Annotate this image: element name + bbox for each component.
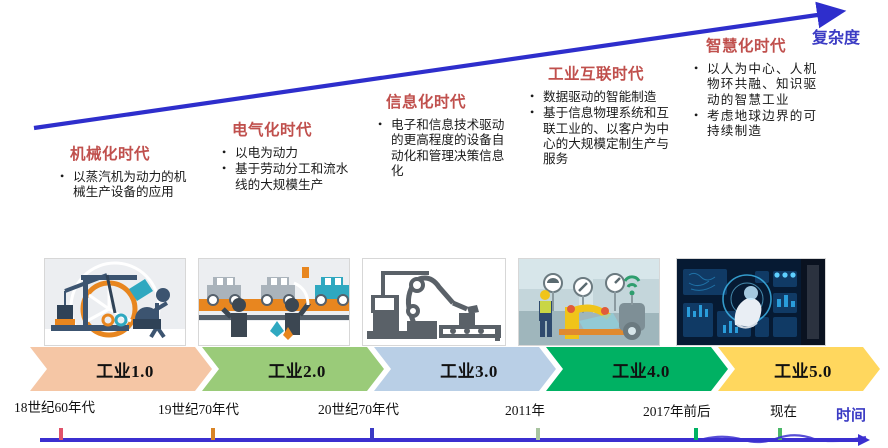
industry-stage-chevrons: 工业1.0 工业2.0 工业3.0 工业4.0 工业5.0 [30, 347, 880, 391]
era-bullet-list: 数据驱动的智能制造 基于信息物理系统和互联工业的、以客户为中心的大规模定制生产与… [530, 90, 670, 168]
era-bullet: 电子和信息技术驱动的更高程度的设备自动化和管理决策信息化 [378, 118, 510, 179]
chevron-industry-1[interactable]: 工业1.0 [30, 347, 212, 391]
thumb-industry-2 [198, 258, 350, 346]
chevron-label: 工业3.0 [440, 357, 498, 382]
bottom-timeline [0, 424, 888, 448]
thumb-industry-1 [44, 258, 186, 346]
date-label-6: 现在 [770, 400, 797, 420]
era-bullet-list: 以蒸汽机为动力的机械生产设备的应用 [60, 170, 190, 201]
era-title: 机械化时代 [70, 142, 190, 164]
date-label-3: 20世纪70年代 [318, 398, 399, 418]
era-bullet-list: 以电为动力 基于劳动分工和流水线的大规模生产 [222, 146, 350, 193]
era-bullet: 数据驱动的智能制造 [530, 90, 670, 105]
timeline-tick-3 [370, 428, 374, 440]
timeline-scribble [700, 430, 870, 448]
era-bullet: 考虑地球边界的可持续制造 [694, 109, 822, 140]
timeline-tick-1 [59, 428, 63, 440]
chevron-industry-3[interactable]: 工业3.0 [374, 347, 556, 391]
thumb-industry-4 [518, 258, 660, 346]
era-bullet: 基于信息物理系统和互联工业的、以客户为中心的大规模定制生产与服务 [530, 106, 670, 167]
era-column-mechanization: 机械化时代 以蒸汽机为动力的机械生产设备的应用 [60, 142, 190, 202]
era-bullet-list: 以人为中心、人机物环共融、知识驱动的智慧工业 考虑地球边界的可持续制造 [694, 62, 822, 140]
thumb-industry-5 [676, 258, 826, 346]
date-label-4: 2011年 [505, 399, 545, 419]
era-bullet: 基于劳动分工和流水线的大规模生产 [222, 162, 350, 193]
era-title: 信息化时代 [386, 90, 510, 112]
chevron-industry-2[interactable]: 工业2.0 [202, 347, 384, 391]
chevron-label: 工业5.0 [774, 357, 832, 382]
era-bullet: 以人为中心、人机物环共融、知识驱动的智慧工业 [694, 62, 822, 108]
chevron-label: 工业1.0 [96, 357, 154, 382]
era-title: 智慧化时代 [706, 34, 822, 56]
thumb-industry-3 [362, 258, 506, 346]
timeline-arrowhead [858, 434, 870, 446]
era-bullet-list: 电子和信息技术驱动的更高程度的设备自动化和管理决策信息化 [378, 118, 510, 179]
era-column-industrial-internet: 工业互联时代 数据驱动的智能制造 基于信息物理系统和互联工业的、以客户为中心的大… [530, 62, 670, 169]
timeline-tick-4 [536, 428, 540, 440]
chevron-industry-5[interactable]: 工业5.0 [718, 347, 880, 391]
era-title: 电气化时代 [232, 118, 350, 140]
era-column-informatization: 信息化时代 电子和信息技术驱动的更高程度的设备自动化和管理决策信息化 [378, 90, 510, 180]
date-label-5: 2017年前后 [643, 400, 711, 420]
thumbnail-row [0, 258, 888, 346]
era-bullet: 以蒸汽机为动力的机械生产设备的应用 [60, 170, 190, 201]
era-column-intelligentization: 智慧化时代 以人为中心、人机物环共融、知识驱动的智慧工业 考虑地球边界的可持续制… [694, 34, 822, 141]
chevron-label: 工业4.0 [612, 357, 670, 382]
time-axis-label: 时间 [836, 404, 866, 425]
chevron-label: 工业2.0 [268, 357, 326, 382]
date-label-2: 19世纪70年代 [158, 398, 239, 418]
chevron-industry-4[interactable]: 工业4.0 [546, 347, 728, 391]
era-column-electrification: 电气化时代 以电为动力 基于劳动分工和流水线的大规模生产 [222, 118, 350, 194]
timeline-tick-5 [694, 428, 698, 440]
timeline-tick-2 [211, 428, 215, 440]
era-bullet: 以电为动力 [222, 146, 350, 161]
date-label-1: 18世纪60年代 [14, 396, 95, 416]
slide-canvas: 复杂度 机械化时代 以蒸汽机为动力的机械生产设备的应用 电气化时代 以电为动力 … [0, 0, 888, 448]
era-title: 工业互联时代 [548, 62, 670, 84]
